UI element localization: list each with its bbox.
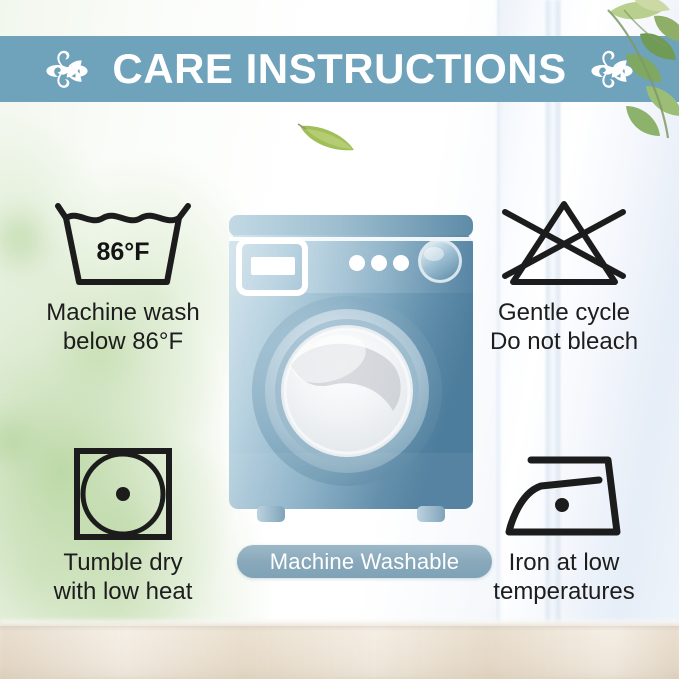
fleur-de-lis-icon-left [36, 43, 98, 95]
washer-button-2[interactable] [371, 255, 387, 271]
symbol-do-not-bleach: Gentle cycle Do not bleach [452, 196, 676, 356]
header-bar: CARE INSTRUCTIONS [0, 36, 679, 102]
floating-leaf-icon [296, 118, 358, 159]
symbol-label-tumble-dry: Tumble dry with low heat [54, 548, 193, 606]
care-instructions-infographic: CARE INSTRUCTIONS [0, 0, 679, 679]
symbol-iron: Iron at low temperatures [452, 446, 676, 606]
washer-button-3[interactable] [393, 255, 409, 271]
washer-program-knob[interactable] [418, 239, 462, 283]
wash-temperature-value: 86°F [48, 238, 198, 267]
symbol-label-do-not-bleach: Gentle cycle Do not bleach [490, 298, 638, 356]
badge-label: Machine Washable [270, 551, 459, 573]
tumble-dry-square-icon [48, 446, 198, 542]
crossed-triangle-icon [489, 196, 639, 292]
washer-foot-left [257, 506, 285, 522]
symbol-label-machine-wash: Machine wash below 86°F [46, 298, 199, 356]
washer-foot-right [417, 506, 445, 522]
page-title: CARE INSTRUCTIONS [112, 48, 566, 90]
machine-washable-badge: Machine Washable [237, 545, 492, 578]
iron-icon [489, 446, 639, 542]
washer-button-1[interactable] [349, 255, 365, 271]
symbol-machine-wash: 86°F Machine wash below 86°F [12, 196, 234, 356]
washer-top-lid [229, 215, 473, 237]
background-table-surface [0, 626, 679, 679]
symbol-tumble-dry: Tumble dry with low heat [12, 446, 234, 606]
washing-machine-illustration [227, 213, 475, 528]
fleur-de-lis-icon-right [581, 43, 643, 95]
symbol-label-iron: Iron at low temperatures [493, 548, 634, 606]
